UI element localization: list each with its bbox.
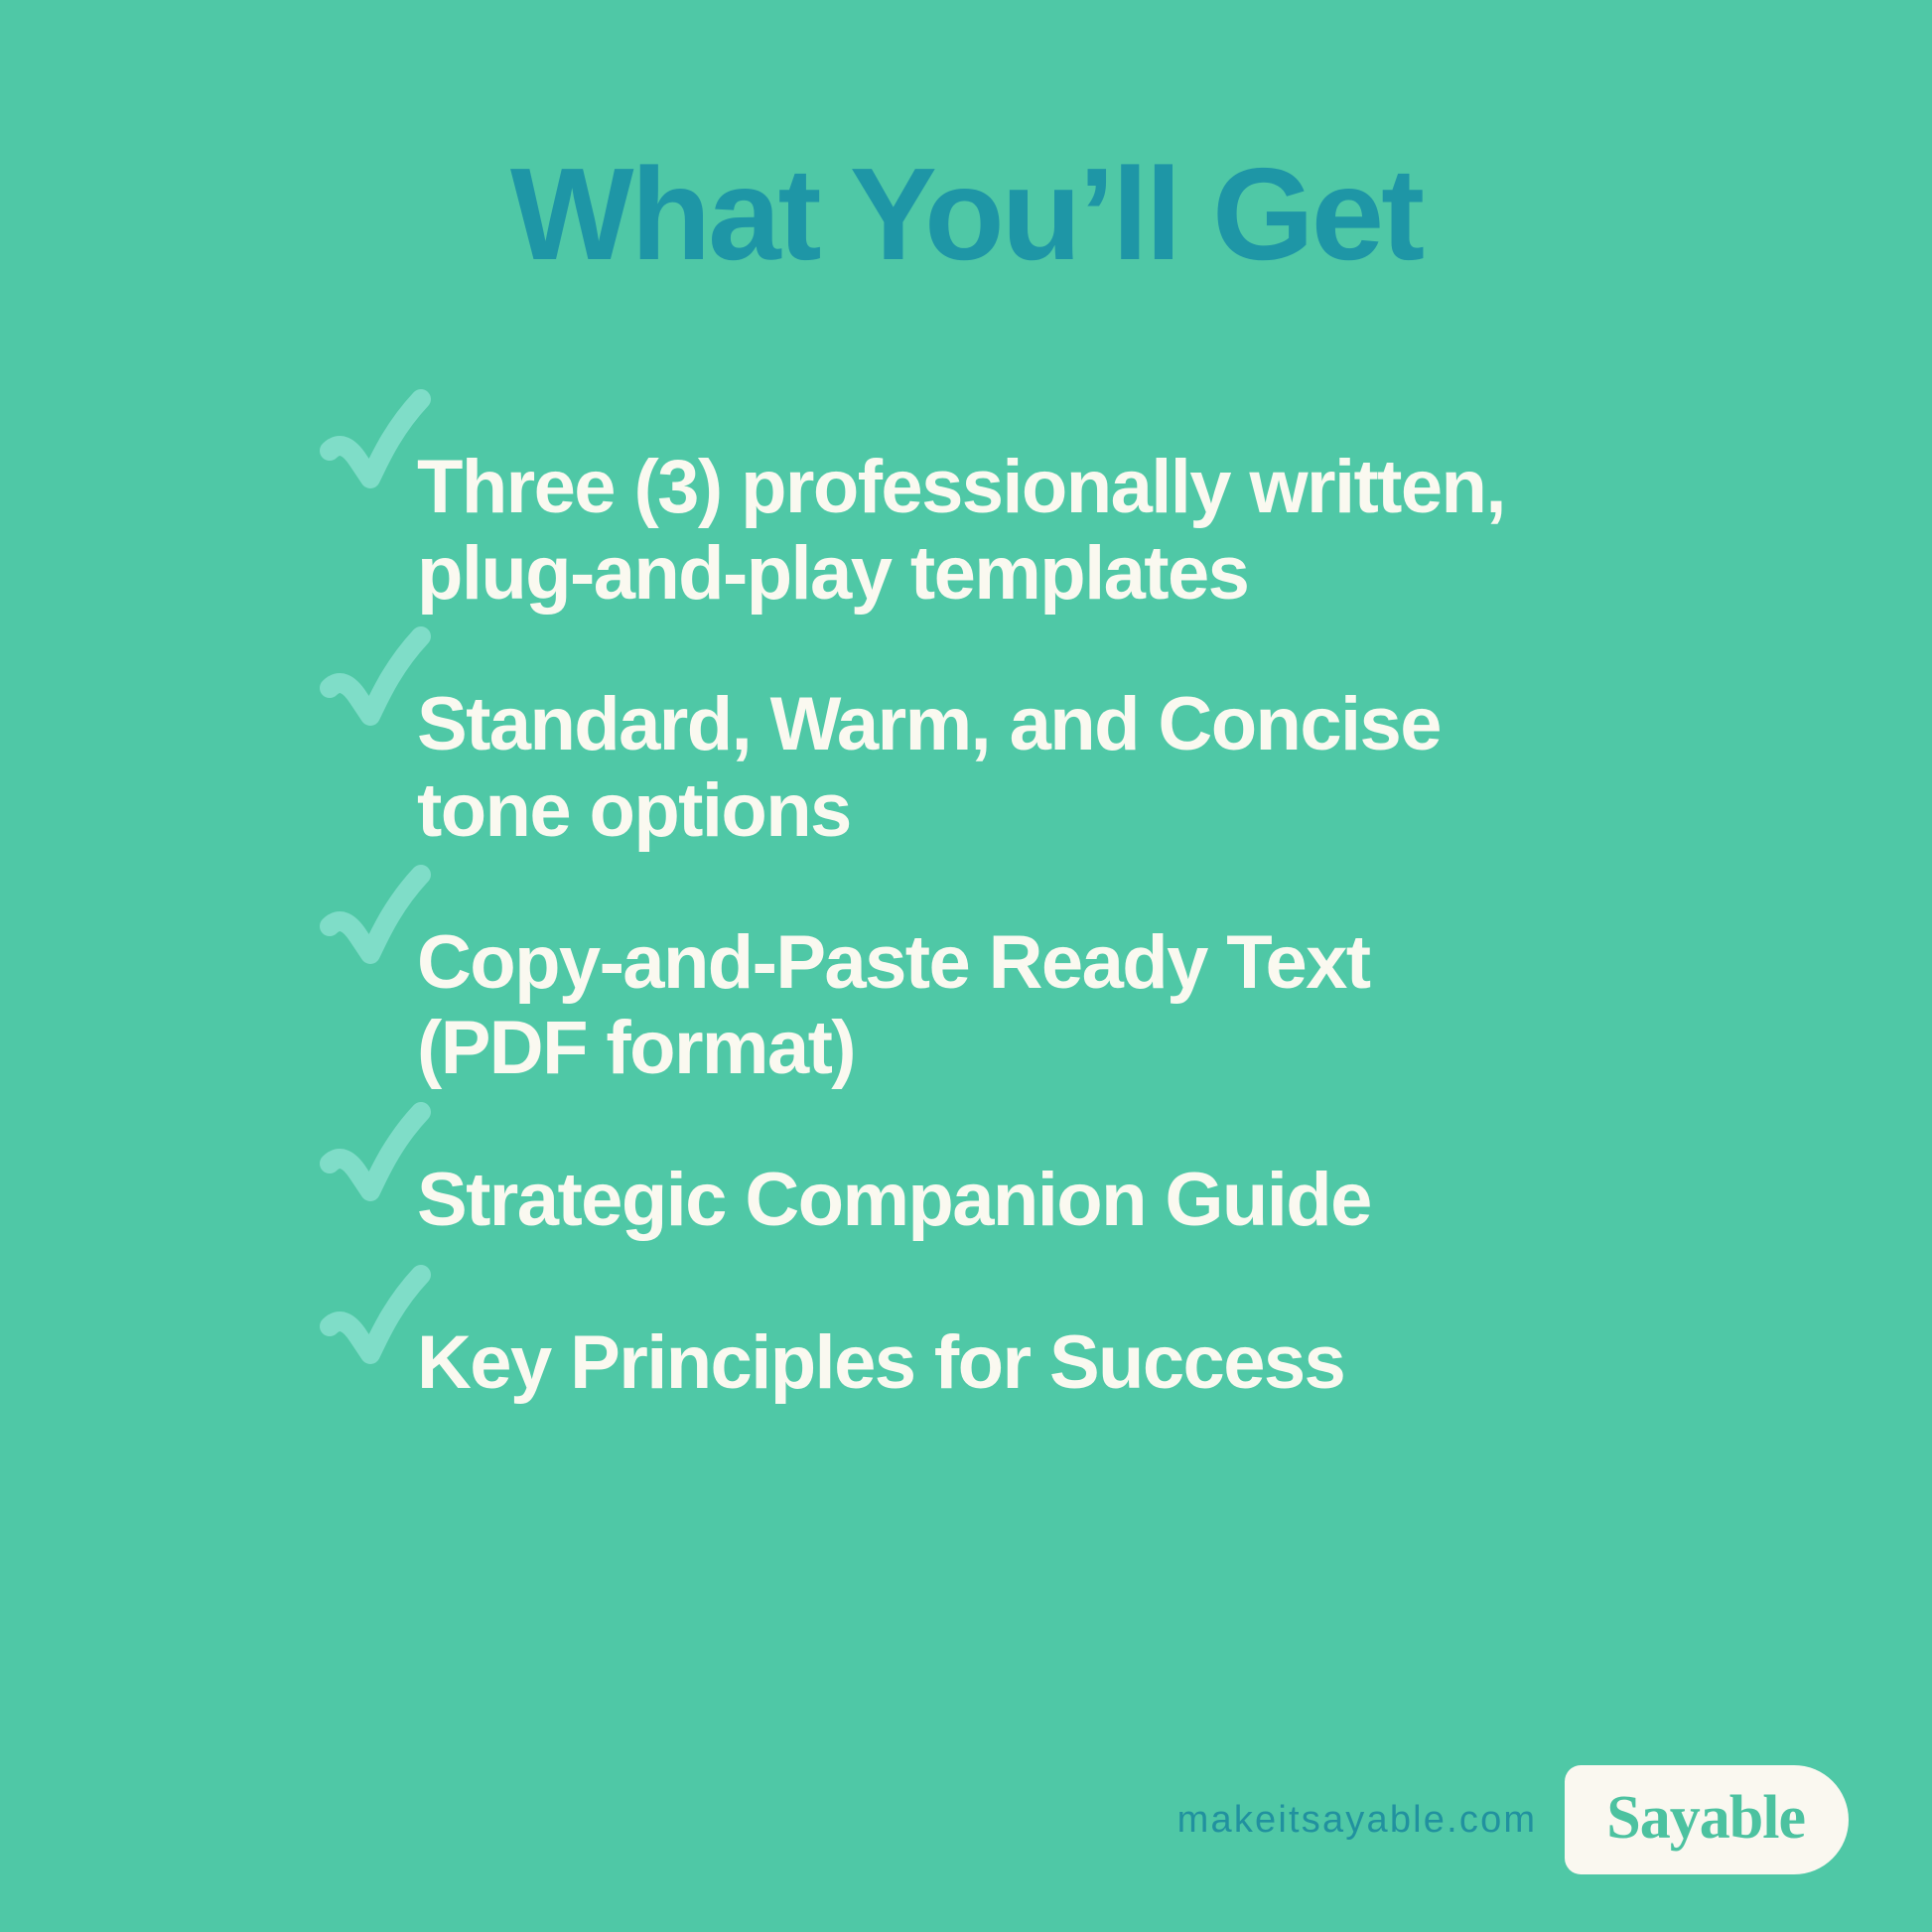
page-title: What You’ll Get [510,149,1422,280]
list-item: Strategic Companion Guide [318,1158,1813,1244]
list-item: Copy-and-Paste Ready Text (PDF format) [318,920,1813,1092]
check-icon [326,391,429,508]
check-icon [326,1267,429,1384]
list-item-label: Key Principles for Success [417,1320,1813,1407]
list-item: Standard, Warm, and Concise tone options [318,682,1813,854]
footer: makeitsayable.com Sayable [1177,1765,1849,1874]
list-item: Key Principles for Success [318,1320,1813,1407]
brand-logo-label: Sayable [1606,1787,1805,1849]
slide-canvas: What You’ll Get Three (3) professionally… [0,0,1932,1932]
brand-logo[interactable]: Sayable [1565,1765,1849,1874]
check-icon [326,1104,429,1221]
list-item-label: Strategic Companion Guide [417,1158,1813,1244]
list-item-label: Three (3) professionally written, plug-a… [417,445,1813,617]
check-icon [326,628,429,746]
list-item-label: Copy-and-Paste Ready Text (PDF format) [417,920,1813,1092]
list-item: Three (3) professionally written, plug-a… [318,445,1813,617]
list-item-label: Standard, Warm, and Concise tone options [417,682,1813,854]
check-icon [326,867,429,984]
checklist: Three (3) professionally written, plug-a… [318,445,1813,1484]
page-title-container: What You’ll Get [0,149,1932,280]
website-url[interactable]: makeitsayable.com [1177,1799,1538,1842]
